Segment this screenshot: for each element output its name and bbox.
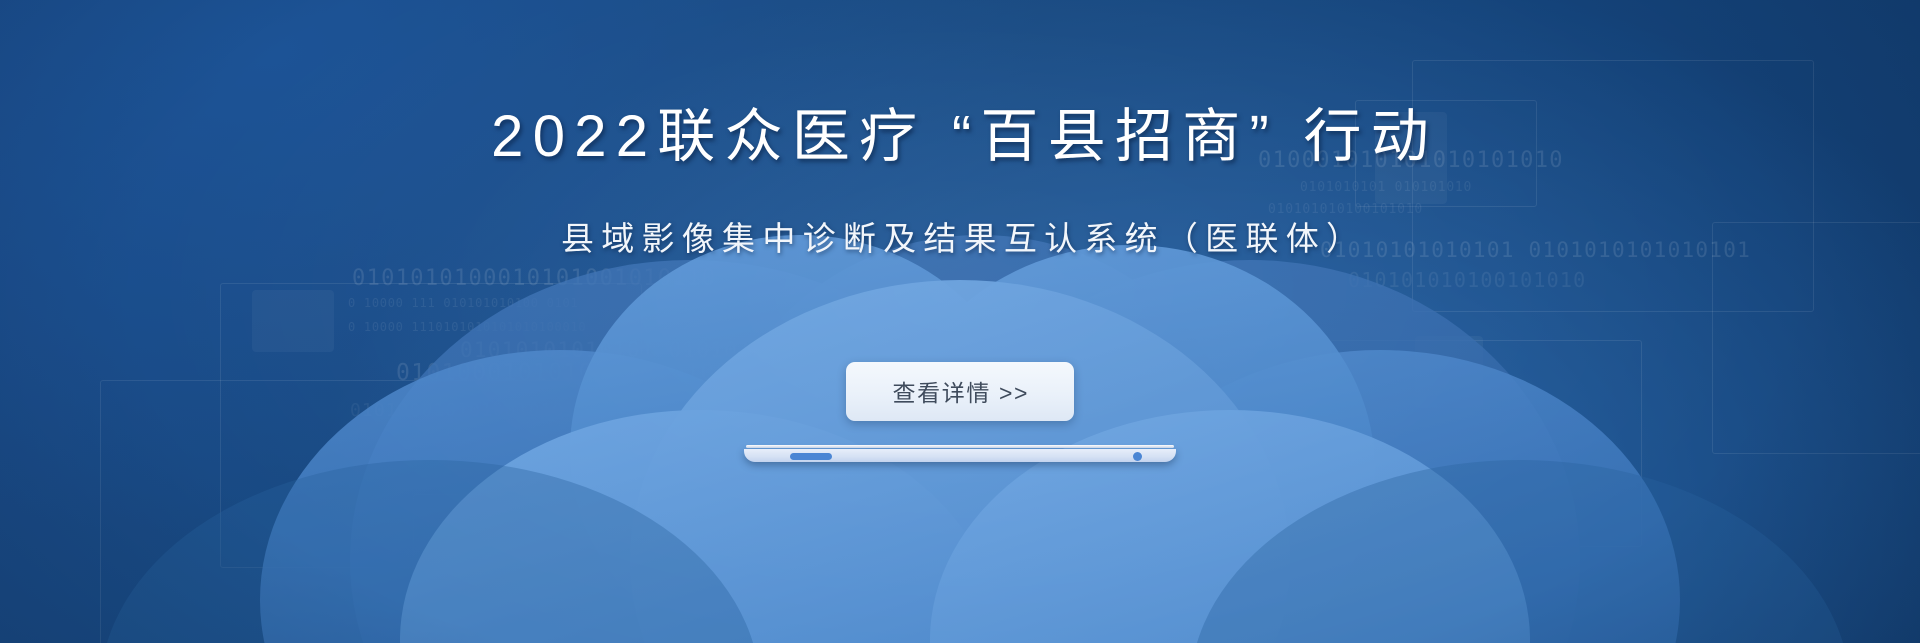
background-vignette [0,0,1920,643]
laptop-screen-edge [746,445,1174,448]
cta-container: 查看详情 >> [0,362,1920,421]
laptop-base-illustration [744,445,1176,467]
view-details-button[interactable]: 查看详情 >> [846,362,1074,421]
banner-subtitle: 县域影像集中诊断及结果互认系统（医联体） [0,222,1920,255]
banner-title: 2022联众医疗 “百县招商” 行动 [0,108,1920,166]
promo-banner: 0101010100010101001010110 0 10000 111 01… [0,0,1920,643]
laptop-notch-icon [790,453,832,460]
laptop-indicator-dot-icon [1133,452,1142,461]
